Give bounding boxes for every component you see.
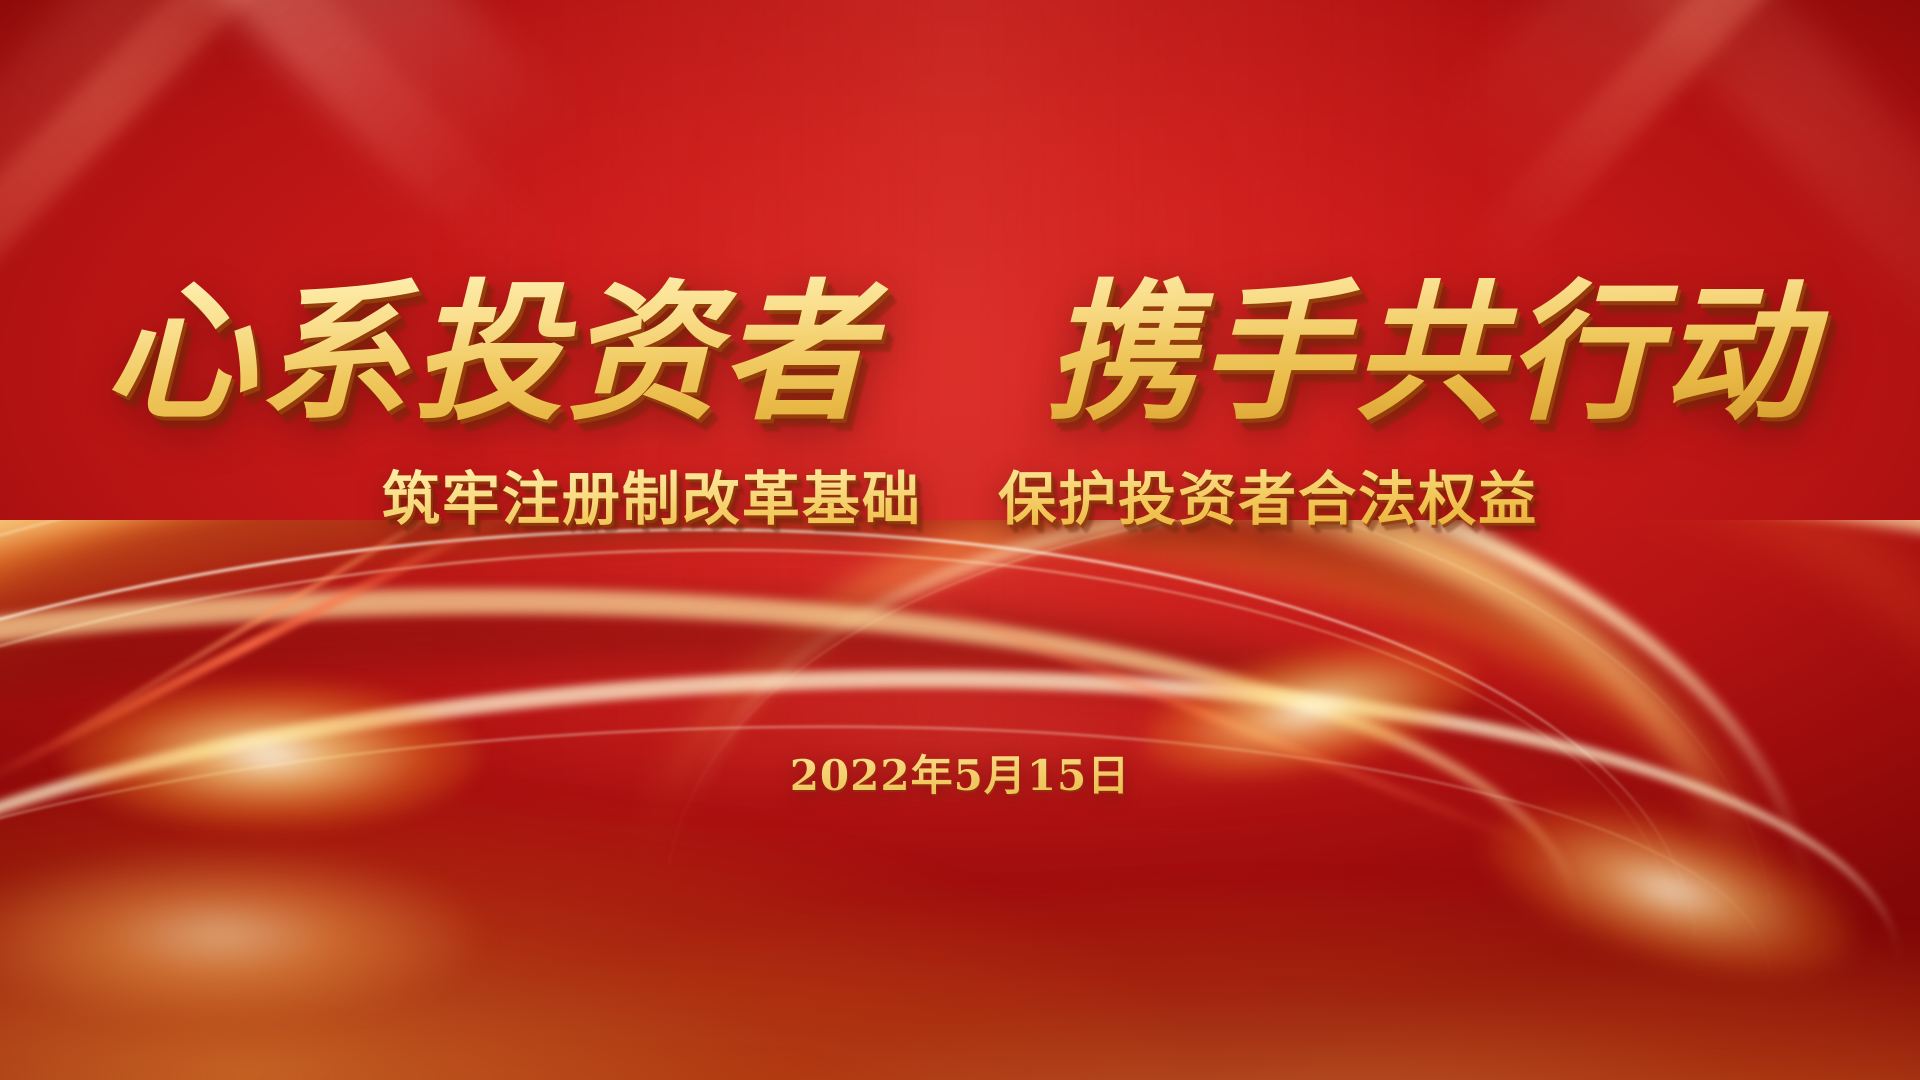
poster-content: 5·15全国投资者保护宣传日 心系投资者 携手共行动 筑牢注册制改革基础 保护投… — [0, 0, 1920, 1080]
subtitle-part-1: 筑牢注册制改革基础 — [382, 467, 922, 532]
poster-headline: 心系投资者 携手共行动 — [0, 232, 1920, 449]
poster-date: 2022年5月15日 — [0, 742, 1920, 803]
subtitle-part-2: 保护投资者合法权益 — [998, 467, 1538, 532]
headline-part-1: 心系投资者 — [105, 265, 875, 441]
poster-subtitle: 筑牢注册制改革基础 保护投资者合法权益 — [0, 452, 1920, 536]
campaign-eyebrow-text: 5·15全国投资者保护宣传日 — [185, 143, 631, 195]
poster-canvas: 5·15全国投资者保护宣传日 心系投资者 携手共行动 筑牢注册制改革基础 保护投… — [0, 0, 1920, 1080]
headline-part-2: 携手共行动 — [1045, 265, 1815, 441]
